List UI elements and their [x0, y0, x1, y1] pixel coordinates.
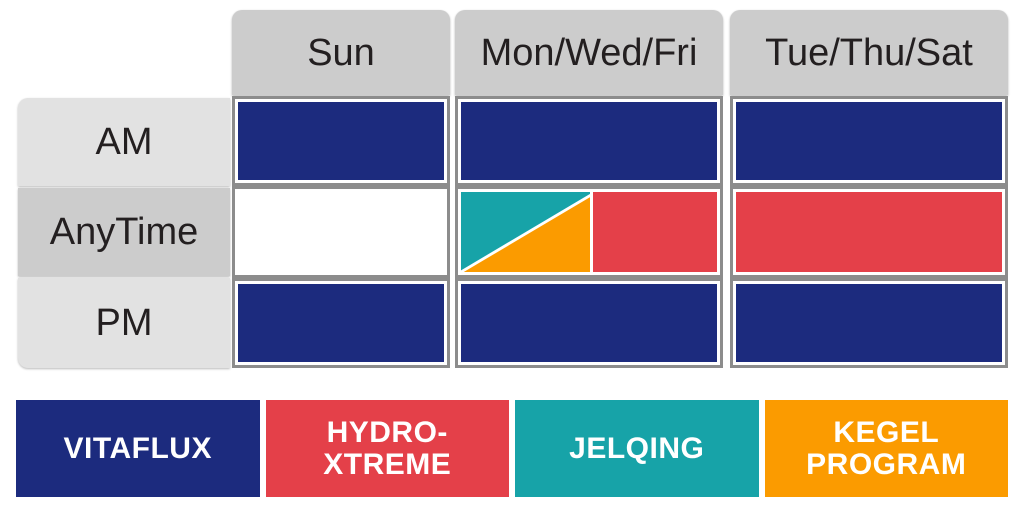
cell-fill-hydroxtreme: [736, 192, 1002, 272]
cell-am-mon-wed-fri: [455, 96, 723, 186]
cell-fill-empty: [238, 192, 444, 272]
cell-fill-vitaflux: [461, 284, 717, 362]
cell-inner: [235, 281, 447, 365]
cell-anytime-sun: [232, 186, 450, 278]
schedule-matrix: Sun Mon/Wed/Fri Tue/Thu/Sat AM AnyTime P…: [0, 0, 1024, 520]
legend-item-label: VITAFLUX: [64, 433, 212, 464]
cell-inner: [733, 99, 1005, 183]
row-header-label: AM: [96, 123, 153, 161]
cell-fill-vitaflux: [238, 102, 444, 180]
legend-item-jelqing: JELQING: [515, 400, 759, 497]
diagonal-split-graphic: [461, 192, 596, 272]
legend-item-label: JELQING: [569, 433, 704, 464]
cell-inner: [458, 99, 720, 183]
legend-item-vitaflux: VITAFLUX: [16, 400, 260, 497]
cell-fill-vitaflux: [238, 284, 444, 362]
cell-am-sun: [232, 96, 450, 186]
cell-fill-vitaflux: [736, 284, 1002, 362]
column-header-label: Tue/Thu/Sat: [765, 34, 973, 72]
cell-fill-jelqing-kegel-split: [461, 192, 596, 272]
column-header-label: Mon/Wed/Fri: [481, 34, 698, 72]
row-header-label: PM: [96, 304, 153, 342]
row-header-am: AM: [18, 98, 230, 186]
legend-item-label: HYDRO- XTREME: [323, 417, 451, 479]
cell-fill-vitaflux: [736, 102, 1002, 180]
row-header-pm: PM: [18, 278, 230, 368]
cell-inner: [458, 281, 720, 365]
cell-pm-sun: [232, 278, 450, 368]
legend-item-hydroxtreme: HYDRO- XTREME: [266, 400, 510, 497]
legend-item-kegel-program: KEGEL PROGRAM: [765, 400, 1009, 497]
cell-fill-vitaflux: [461, 102, 717, 180]
cell-pm-mon-wed-fri: [455, 278, 723, 368]
column-header-sun: Sun: [232, 10, 450, 95]
cell-inner: [458, 189, 720, 275]
legend: VITAFLUX HYDRO- XTREME JELQING KEGEL PRO…: [16, 400, 1008, 497]
cell-inner: [235, 99, 447, 183]
cell-inner: [235, 189, 447, 275]
cell-pm-tue-thu-sat: [730, 278, 1008, 368]
cell-inner: [733, 189, 1005, 275]
cell-am-tue-thu-sat: [730, 96, 1008, 186]
cell-inner: [733, 281, 1005, 365]
column-header-mon-wed-fri: Mon/Wed/Fri: [455, 10, 723, 95]
cell-fill-hydroxtreme: [590, 192, 717, 272]
cell-anytime-tue-thu-sat: [730, 186, 1008, 278]
column-header-label: Sun: [307, 34, 375, 72]
column-header-tue-thu-sat: Tue/Thu/Sat: [730, 10, 1008, 95]
legend-item-label: KEGEL PROGRAM: [806, 417, 966, 479]
cell-anytime-mon-wed-fri: [455, 186, 723, 278]
row-header-anytime: AnyTime: [18, 188, 230, 276]
row-header-label: AnyTime: [50, 213, 199, 251]
